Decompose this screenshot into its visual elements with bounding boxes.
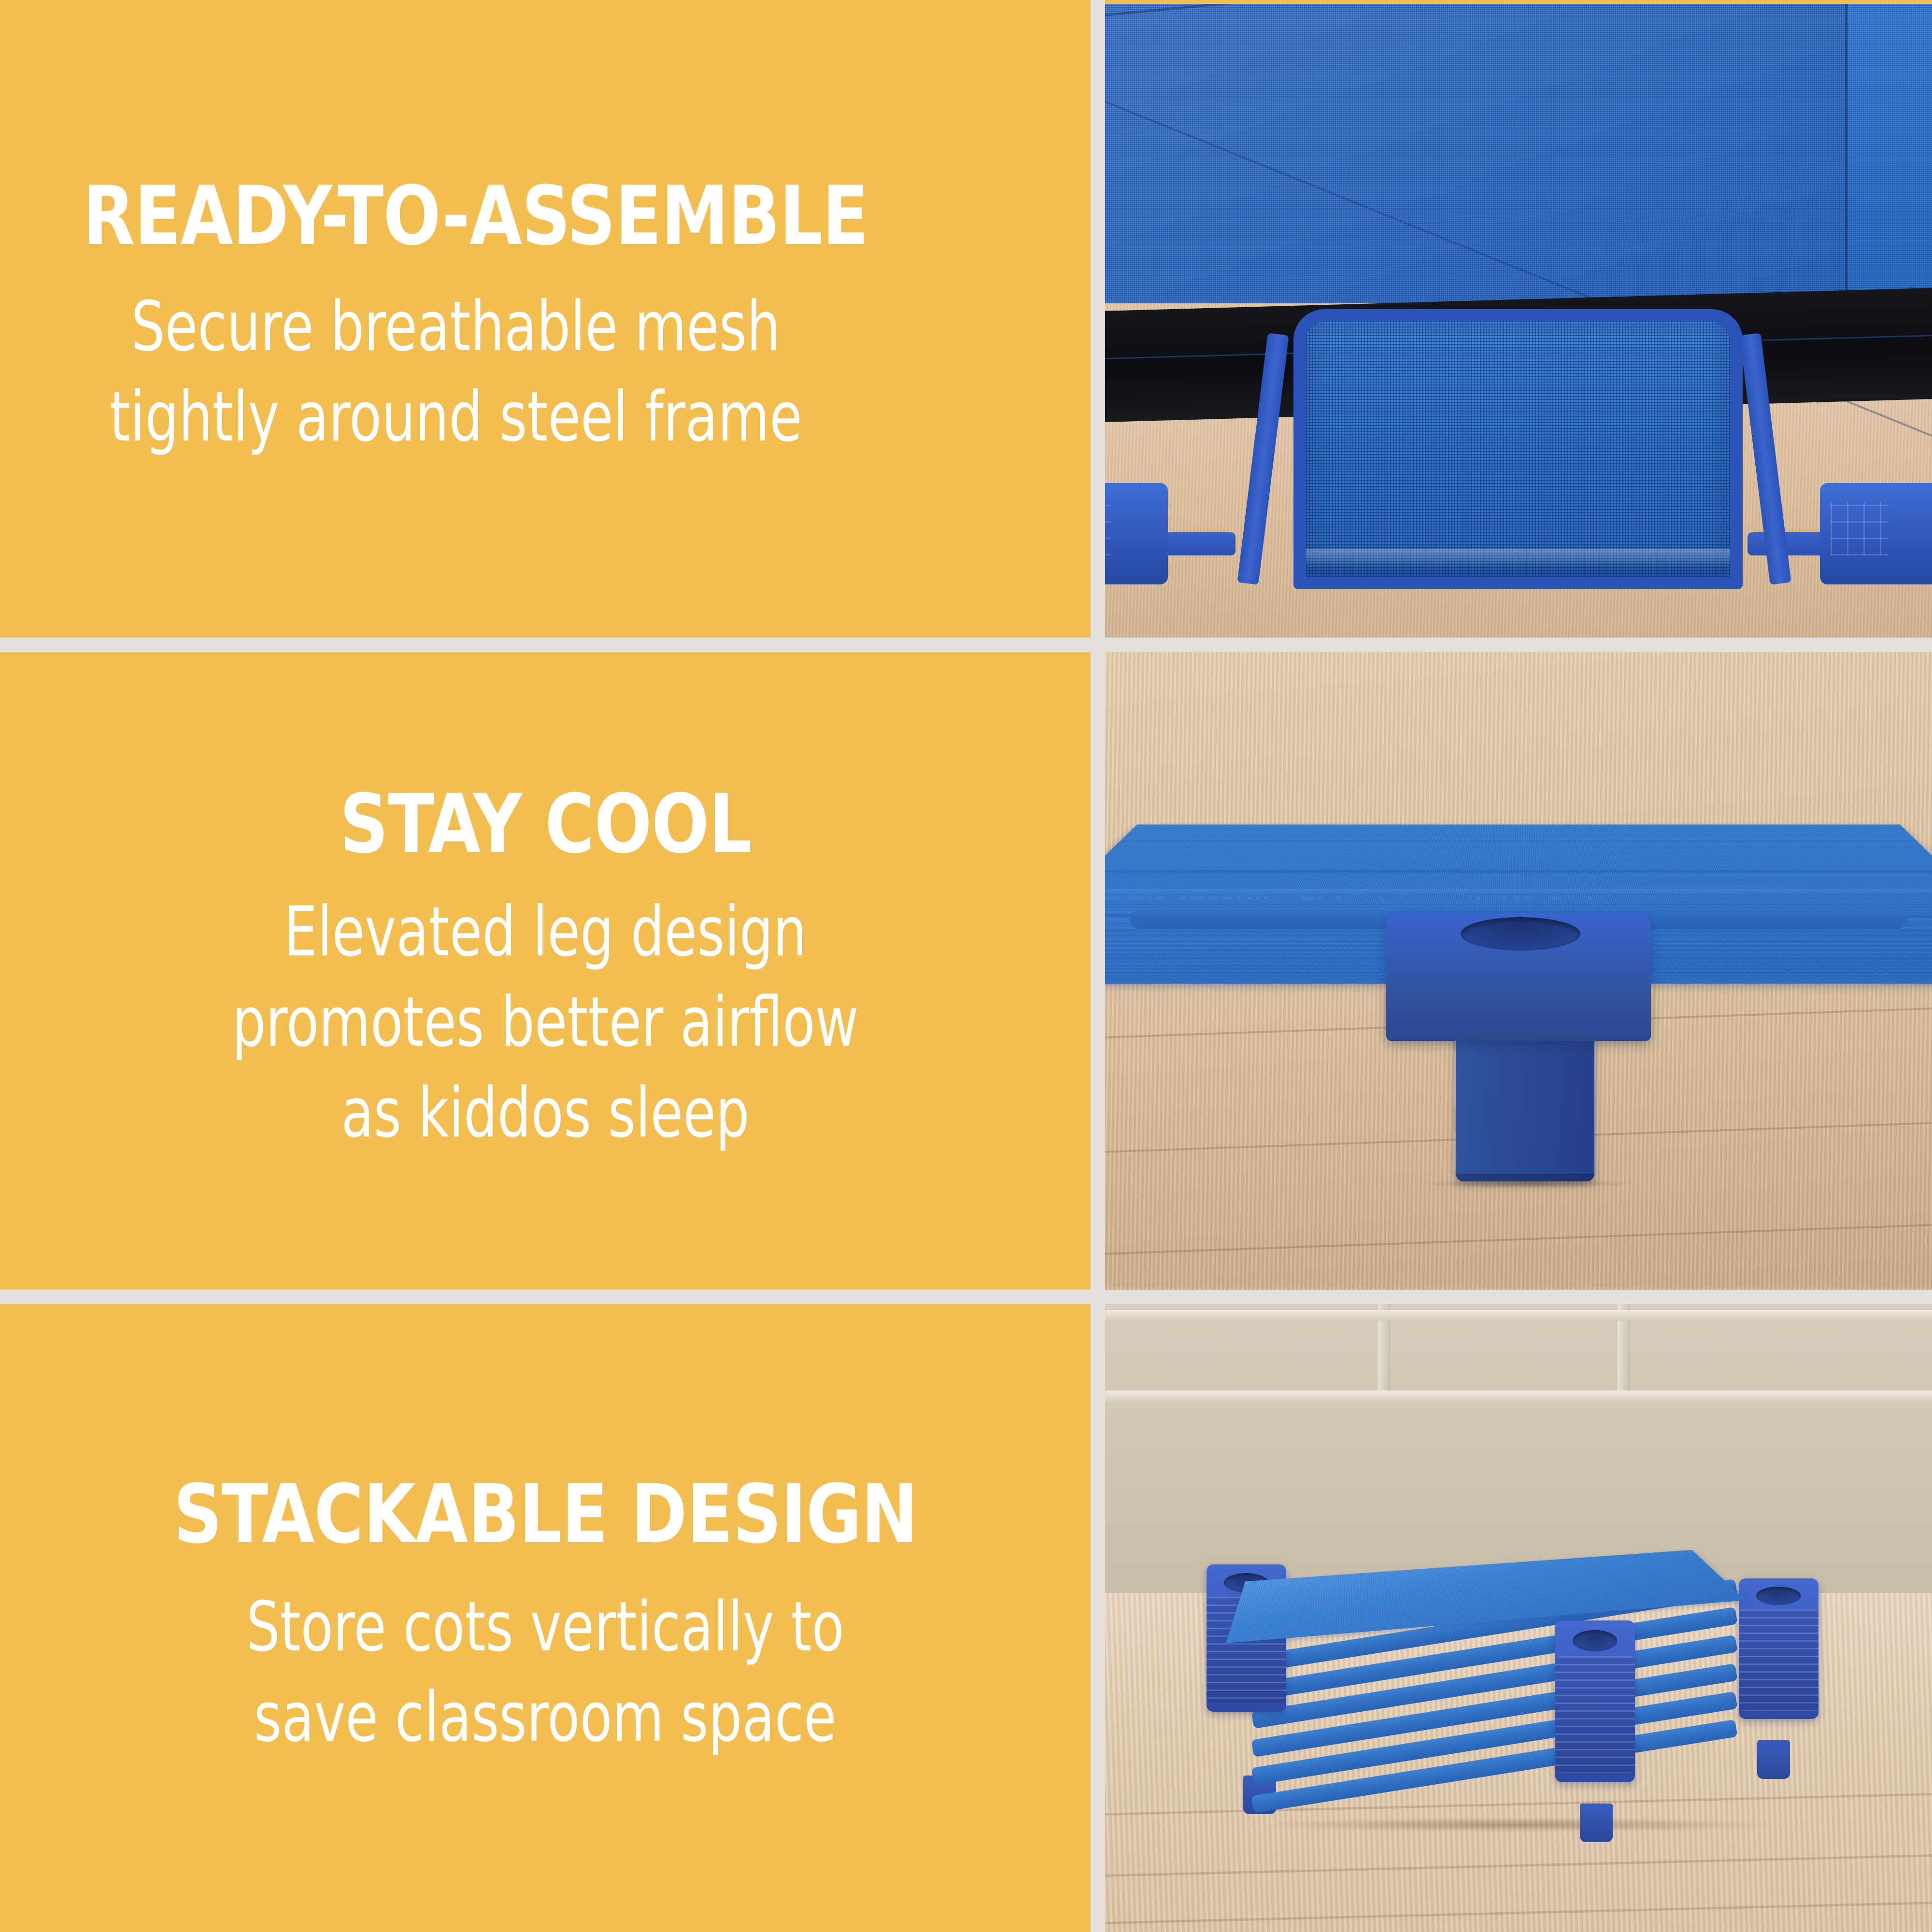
cot-foot <box>1580 1804 1613 1842</box>
panel-top-accent-strip <box>1105 0 1932 4</box>
cot-corner-leg-stack <box>1739 1578 1818 1719</box>
feature-body-line: save classroom space <box>246 1672 844 1762</box>
feature-body-line: tightly around steel frame <box>110 372 802 462</box>
wall-trim-rail <box>1105 1391 1932 1403</box>
feature-body-text: Elevated leg design promotes better airf… <box>232 887 859 1158</box>
feature-body-line: Secure breathable mesh <box>110 282 802 372</box>
feature-body-line: as kiddos sleep <box>232 1068 859 1158</box>
cot-end-mesh-panel-photo <box>1105 0 1932 638</box>
cot-foot <box>1105 483 1168 584</box>
photo-scene <box>1105 652 1932 1290</box>
feature-headline: READY-TO-ASSEMBLE <box>83 175 868 256</box>
cot-leg-post <box>1456 1028 1595 1181</box>
cot-leg-stacking-hole <box>1756 1587 1801 1605</box>
photo-scene <box>1105 0 1932 638</box>
floor-plank-seam <box>1105 1853 1932 1878</box>
cot-foot <box>1820 483 1932 584</box>
feature-headline: STACKABLE DESIGN <box>173 1474 918 1555</box>
feature-body-text: Secure breathable mesh tightly around st… <box>110 282 802 463</box>
panel-gloss <box>1306 549 1730 568</box>
leg-stack-ridges <box>1739 1609 1818 1711</box>
floor-plank-seam <box>1105 1901 1932 1925</box>
feature-headline: STAY COOL <box>340 783 752 865</box>
wall-trim-rail <box>1105 1310 1932 1321</box>
leg-stack-ridges <box>1555 1656 1635 1773</box>
feature-body-text: Store cots vertically to save classroom … <box>246 1582 844 1763</box>
feature-body-line: promotes better airflow <box>232 977 859 1067</box>
cot-corner-leg-stack <box>1555 1620 1635 1782</box>
cot-mesh-surface <box>1105 4 1932 303</box>
feature-body-line: Store cots vertically to <box>246 1582 844 1672</box>
feature-panel-ready-to-assemble: READY-TO-ASSEMBLE Secure breathable mesh… <box>0 0 1091 638</box>
elevated-cot-leg-photo <box>1105 652 1932 1290</box>
photo-scene <box>1105 1304 1932 1932</box>
mesh-side-edge <box>1845 4 1932 303</box>
cot-leg-stacking-hole <box>1461 917 1580 951</box>
cot-foot <box>1757 1740 1790 1779</box>
feature-panel-stackable-design: STACKABLE DESIGN Store cots vertically t… <box>0 1304 1091 1932</box>
mesh-end-panel <box>1293 309 1743 589</box>
cot-leg-stacking-hole <box>1573 1630 1617 1651</box>
stack-shadow <box>1262 1818 1776 1832</box>
feature-body-line: Elevated leg design <box>232 887 859 977</box>
feature-panel-stay-cool: STAY COOL Elevated leg design promotes b… <box>0 652 1091 1290</box>
product-feature-infographic: READY-TO-ASSEMBLE Secure breathable mesh… <box>0 0 1932 1932</box>
stacked-cots-photo <box>1105 1304 1932 1932</box>
stacked-cot-assembly <box>1213 1480 1825 1832</box>
